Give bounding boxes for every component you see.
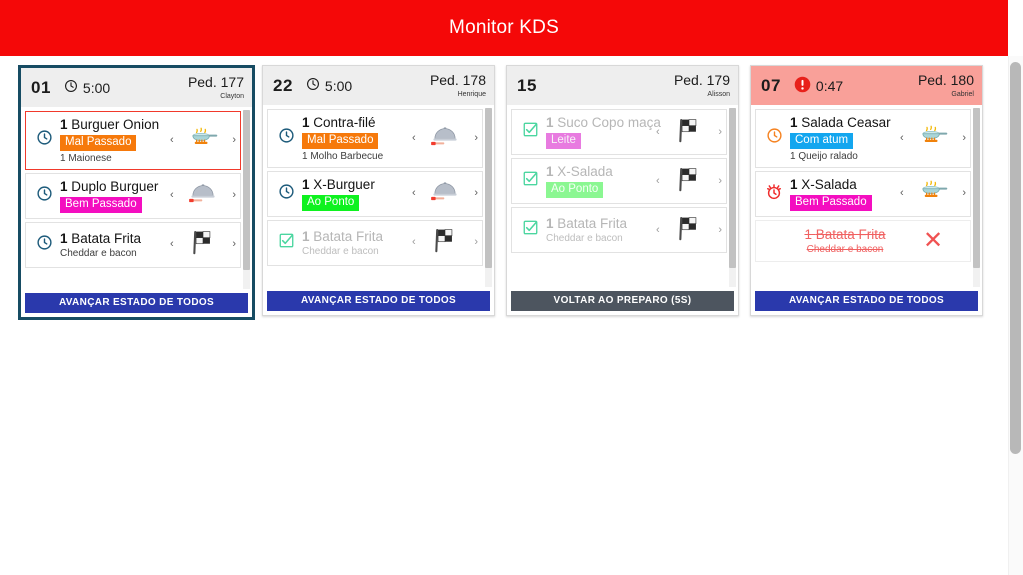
- order-item[interactable]: 1 Contra-filéMal Passado1 Molho Barbecue…: [267, 109, 483, 168]
- card-scrollbar-thumb[interactable]: [973, 108, 980, 268]
- card-order-label: Ped. 179: [674, 72, 730, 88]
- card-number: 07: [761, 76, 781, 96]
- item-prev-state-button[interactable]: ‹: [170, 190, 174, 201]
- item-status-icon-slot[interactable]: [516, 170, 544, 192]
- item-next-state-button[interactable]: ›: [962, 188, 966, 199]
- serving-dome-icon[interactable]: [188, 181, 218, 210]
- item-badge: Mal Passado: [302, 133, 378, 149]
- pan-cooking-icon[interactable]: [918, 179, 948, 208]
- item-badge: Ao Ponto: [546, 182, 603, 198]
- item-body: 1 X-SaladaBem Passado: [788, 177, 900, 211]
- clock-icon: [64, 79, 78, 96]
- card-timer-value: 0:47: [816, 78, 843, 94]
- alarm-clock-icon[interactable]: [765, 182, 783, 206]
- item-prev-state-button[interactable]: ‹: [900, 133, 904, 144]
- card-order-info: Ped. 180Gabriel: [918, 73, 974, 98]
- item-title: 1 Batata Frita: [546, 216, 656, 231]
- card-item-list: 1 Suco Copo maçaLeite‹›1 X-SaladaAo Pont…: [507, 105, 738, 290]
- clock-icon[interactable]: [36, 234, 53, 256]
- card-item-list: 1 Contra-filéMal Passado1 Molho Barbecue…: [263, 105, 494, 290]
- cancel-x-icon: ✕: [900, 229, 966, 253]
- item-title: 1 Batata Frita: [60, 231, 170, 246]
- item-status-icon-slot[interactable]: [30, 185, 58, 207]
- item-title: 1 Suco Copo maça: [546, 115, 656, 130]
- checkbox-checked-icon[interactable]: [278, 232, 295, 254]
- card-scrollbar-thumb[interactable]: [729, 108, 736, 268]
- order-item[interactable]: 1 Duplo BurguerBem Passado‹›: [25, 173, 241, 219]
- card-scrollbar-thumb[interactable]: [485, 108, 492, 268]
- checkered-flag-icon[interactable]: [675, 215, 703, 246]
- item-body: 1 Contra-filéMal Passado1 Molho Barbecue: [300, 115, 412, 162]
- app-title: Monitor KDS: [449, 17, 559, 39]
- pan-cooking-icon[interactable]: [918, 124, 948, 153]
- card-number: 22: [273, 76, 293, 96]
- item-next-state-button[interactable]: ›: [718, 176, 722, 187]
- card-footer: AVANÇAR ESTADO DE TODOS: [21, 292, 252, 317]
- card-action-button[interactable]: VOLTAR AO PREPARO (5S): [511, 291, 734, 311]
- item-next-state-button[interactable]: ›: [718, 127, 722, 138]
- item-badge: Com atum: [790, 133, 853, 149]
- item-title: 1 Salada Ceasar: [790, 115, 900, 130]
- order-item[interactable]: 1 X-SaladaBem Passado‹›: [755, 171, 971, 217]
- item-name: Batata Frita: [71, 231, 141, 246]
- card-item-list: 1 Salada CeasarCom atum1 Queijo ralado‹›…: [751, 105, 982, 290]
- item-note: Cheddar e bacon: [302, 246, 412, 257]
- card-order-info: Ped. 177Clayton: [188, 75, 244, 100]
- clock-icon[interactable]: [36, 129, 53, 151]
- item-body: 1 Burguer OnionMal Passado1 Maionese: [58, 117, 170, 164]
- item-qty: 1: [60, 179, 68, 194]
- item-qty: 1: [302, 177, 310, 192]
- item-qty: 1: [546, 216, 554, 231]
- item-badge: Bem Passado: [790, 195, 872, 211]
- item-prev-state-button[interactable]: ‹: [170, 239, 174, 250]
- item-title: 1 X-Salada: [546, 164, 656, 179]
- item-name: X-Salada: [801, 177, 857, 192]
- item-status-icon-slot[interactable]: [272, 127, 300, 149]
- order-card[interactable]: 15Ped. 179Alisson1 Suco Copo maçaLeite‹›…: [506, 65, 739, 316]
- item-state-nav: ‹›: [170, 229, 236, 260]
- card-timer-value: 5:00: [325, 78, 352, 94]
- item-next-state-button[interactable]: ›: [474, 133, 478, 144]
- card-header: 15Ped. 179Alisson: [507, 66, 738, 105]
- item-status-icon-slot[interactable]: [760, 182, 788, 206]
- item-prev-state-button[interactable]: ‹: [412, 133, 416, 144]
- alert-exclamation-icon: [794, 76, 811, 96]
- order-item[interactable]: 1 Suco Copo maçaLeite‹›: [511, 109, 727, 155]
- item-name: Burguer Onion: [71, 117, 159, 132]
- order-card[interactable]: 070:47Ped. 180Gabriel1 Salada CeasarCom …: [750, 65, 983, 316]
- card-scrollbar-thumb[interactable]: [243, 110, 250, 270]
- clock-orange-icon[interactable]: [766, 127, 783, 149]
- item-state-nav: ‹›: [412, 124, 478, 153]
- order-item[interactable]: 1 Batata FritaCheddar e bacon✕: [755, 220, 971, 262]
- item-name: Batata Frita: [557, 216, 627, 231]
- card-user-name: Alisson: [674, 91, 730, 98]
- item-status-icon-slot[interactable]: [272, 183, 300, 205]
- item-title: 1 X-Salada: [790, 177, 900, 192]
- item-body: 1 Batata FritaCheddar e bacon: [300, 229, 412, 257]
- serving-dome-icon[interactable]: [430, 124, 460, 153]
- item-status-icon-slot[interactable]: [760, 127, 788, 149]
- card-timer: 0:47: [794, 76, 843, 96]
- item-prev-state-button[interactable]: ‹: [412, 188, 416, 199]
- item-name: Contra-filé: [313, 115, 375, 130]
- card-footer: VOLTAR AO PREPARO (5S): [507, 290, 738, 315]
- item-title: 1 Contra-filé: [302, 115, 412, 130]
- clock-icon[interactable]: [278, 127, 295, 149]
- item-state-nav: ‹›: [170, 181, 236, 210]
- checkered-flag-icon[interactable]: [675, 166, 703, 197]
- item-note: 1 Queijo ralado: [790, 151, 900, 162]
- card-number: 01: [31, 78, 51, 98]
- clock-icon: [306, 77, 320, 94]
- item-state-nav: ‹›: [170, 126, 236, 155]
- order-item[interactable]: 1 Batata FritaCheddar e bacon‹›: [511, 207, 727, 253]
- item-status-icon-slot[interactable]: [516, 219, 544, 241]
- item-qty: 1: [790, 177, 798, 192]
- item-prev-state-button[interactable]: ‹: [656, 127, 660, 138]
- item-qty: 1: [60, 117, 68, 132]
- card-item-list: 1 Burguer OnionMal Passado1 Maionese‹›1 …: [21, 107, 252, 292]
- item-state-nav: ‹›: [900, 124, 966, 153]
- item-qty: 1: [60, 231, 68, 246]
- item-qty: 1: [804, 227, 812, 242]
- item-prev-state-button[interactable]: ‹: [900, 188, 904, 199]
- item-body: 1 X-SaladaAo Ponto: [544, 164, 656, 198]
- item-title: 1 Burguer Onion: [60, 117, 170, 132]
- card-order-info: Ped. 179Alisson: [674, 73, 730, 98]
- order-card[interactable]: 225:00Ped. 178Henrique1 Contra-filéMal P…: [262, 65, 495, 316]
- item-qty: 1: [302, 229, 310, 244]
- item-next-state-button[interactable]: ›: [232, 190, 236, 201]
- clock-icon[interactable]: [278, 183, 295, 205]
- item-note: 1 Maionese: [60, 153, 170, 164]
- item-name: Salada Ceasar: [801, 115, 890, 130]
- item-body: 1 Batata FritaCheddar e bacon: [544, 216, 656, 244]
- item-next-state-button[interactable]: ›: [474, 188, 478, 199]
- item-state-nav: ‹›: [656, 215, 722, 246]
- card-footer: AVANÇAR ESTADO DE TODOS: [263, 290, 494, 315]
- item-next-state-button[interactable]: ›: [718, 225, 722, 236]
- item-badge: Bem Passado: [60, 197, 142, 213]
- checkbox-checked-icon[interactable]: [522, 121, 539, 143]
- item-body: 1 Salada CeasarCom atum1 Queijo ralado: [788, 115, 900, 162]
- item-next-state-button[interactable]: ›: [962, 133, 966, 144]
- item-qty: 1: [302, 115, 310, 130]
- item-name: Batata Frita: [816, 227, 886, 242]
- checkbox-checked-icon[interactable]: [522, 219, 539, 241]
- item-body: 1 Duplo BurguerBem Passado: [58, 179, 170, 213]
- order-item[interactable]: 1 Salada CeasarCom atum1 Queijo ralado‹›: [755, 109, 971, 168]
- checkered-flag-icon[interactable]: [189, 229, 217, 260]
- card-order-label: Ped. 177: [188, 74, 244, 90]
- item-state-nav: ‹›: [656, 117, 722, 148]
- card-header: 225:00Ped. 178Henrique: [263, 66, 494, 105]
- item-badge: Mal Passado: [60, 135, 136, 151]
- item-note: Cheddar e bacon: [546, 233, 656, 244]
- order-card[interactable]: 015:00Ped. 177Clayton1 Burguer OnionMal …: [18, 65, 255, 320]
- item-title: 1 Duplo Burguer: [60, 179, 170, 194]
- card-timer: 5:00: [306, 77, 352, 94]
- card-order-label: Ped. 180: [918, 72, 974, 88]
- item-title: 1 Batata Frita: [790, 227, 900, 242]
- card-order-info: Ped. 178Henrique: [430, 73, 486, 98]
- item-body: 1 Batata FritaCheddar e bacon: [788, 227, 900, 255]
- item-title: 1 X-Burguer: [302, 177, 412, 192]
- item-next-state-button[interactable]: ›: [232, 239, 236, 250]
- card-action-button[interactable]: AVANÇAR ESTADO DE TODOS: [267, 291, 490, 311]
- order-item[interactable]: 1 Burguer OnionMal Passado1 Maionese‹›: [25, 111, 241, 170]
- item-prev-state-button[interactable]: ‹: [170, 135, 174, 146]
- order-item[interactable]: 1 X-BurguerAo Ponto‹›: [267, 171, 483, 217]
- order-item[interactable]: 1 X-SaladaAo Ponto‹›: [511, 158, 727, 204]
- card-action-button[interactable]: AVANÇAR ESTADO DE TODOS: [755, 291, 978, 311]
- card-footer: AVANÇAR ESTADO DE TODOS: [751, 290, 982, 315]
- item-state-nav: ‹›: [412, 227, 478, 258]
- item-state-nav: ‹›: [900, 179, 966, 208]
- item-note: 1 Molho Barbecue: [302, 151, 412, 162]
- item-qty: 1: [546, 164, 554, 179]
- item-state-nav: ‹›: [656, 166, 722, 197]
- item-next-state-button[interactable]: ›: [474, 237, 478, 248]
- checkbox-checked-icon[interactable]: [522, 170, 539, 192]
- item-state-nav: ‹›: [412, 179, 478, 208]
- checkered-flag-icon[interactable]: [675, 117, 703, 148]
- order-item[interactable]: 1 Batata FritaCheddar e bacon‹›: [25, 222, 241, 268]
- item-name: X-Salada: [557, 164, 613, 179]
- item-name: X-Burguer: [313, 177, 375, 192]
- card-user-name: Henrique: [430, 91, 486, 98]
- card-user-name: Gabriel: [918, 91, 974, 98]
- pan-cooking-icon[interactable]: [188, 126, 218, 155]
- item-next-state-button[interactable]: ›: [232, 135, 236, 146]
- item-status-icon-slot[interactable]: [272, 232, 300, 254]
- item-status-icon-slot[interactable]: [30, 234, 58, 256]
- item-title: 1 Batata Frita: [302, 229, 412, 244]
- card-header: 015:00Ped. 177Clayton: [21, 68, 252, 107]
- card-action-button[interactable]: AVANÇAR ESTADO DE TODOS: [25, 293, 248, 313]
- item-status-icon-slot[interactable]: [30, 129, 58, 151]
- page-scrollbar-thumb[interactable]: [1010, 62, 1021, 454]
- item-name: Batata Frita: [313, 229, 383, 244]
- item-note: Cheddar e bacon: [60, 248, 170, 259]
- order-item[interactable]: 1 Batata FritaCheddar e bacon‹›: [267, 220, 483, 266]
- item-body: 1 X-BurguerAo Ponto: [300, 177, 412, 211]
- card-timer: 5:00: [64, 79, 110, 96]
- item-name: Suco Copo maça: [557, 115, 661, 130]
- item-cancel-indicator: ✕: [900, 229, 966, 253]
- item-badge: Ao Ponto: [302, 195, 359, 211]
- item-qty: 1: [546, 115, 554, 130]
- card-user-name: Clayton: [188, 93, 244, 100]
- item-name: Duplo Burguer: [71, 179, 158, 194]
- serving-dome-icon[interactable]: [430, 179, 460, 208]
- app-header: Monitor KDS: [0, 0, 1008, 56]
- item-qty: 1: [790, 115, 798, 130]
- item-badge: Leite: [546, 133, 581, 149]
- order-board: 015:00Ped. 177Clayton1 Burguer OnionMal …: [0, 56, 1008, 575]
- clock-icon[interactable]: [36, 185, 53, 207]
- item-status-icon-slot[interactable]: [516, 121, 544, 143]
- card-order-label: Ped. 178: [430, 72, 486, 88]
- checkered-flag-icon[interactable]: [431, 227, 459, 258]
- card-timer-value: 5:00: [83, 80, 110, 96]
- item-prev-state-button[interactable]: ‹: [656, 176, 660, 187]
- item-prev-state-button[interactable]: ‹: [412, 237, 416, 248]
- item-body: 1 Batata FritaCheddar e bacon: [58, 231, 170, 259]
- item-note: Cheddar e bacon: [790, 244, 900, 255]
- card-number: 15: [517, 76, 537, 96]
- item-prev-state-button[interactable]: ‹: [656, 225, 660, 236]
- item-body: 1 Suco Copo maçaLeite: [544, 115, 656, 149]
- card-header: 070:47Ped. 180Gabriel: [751, 66, 982, 105]
